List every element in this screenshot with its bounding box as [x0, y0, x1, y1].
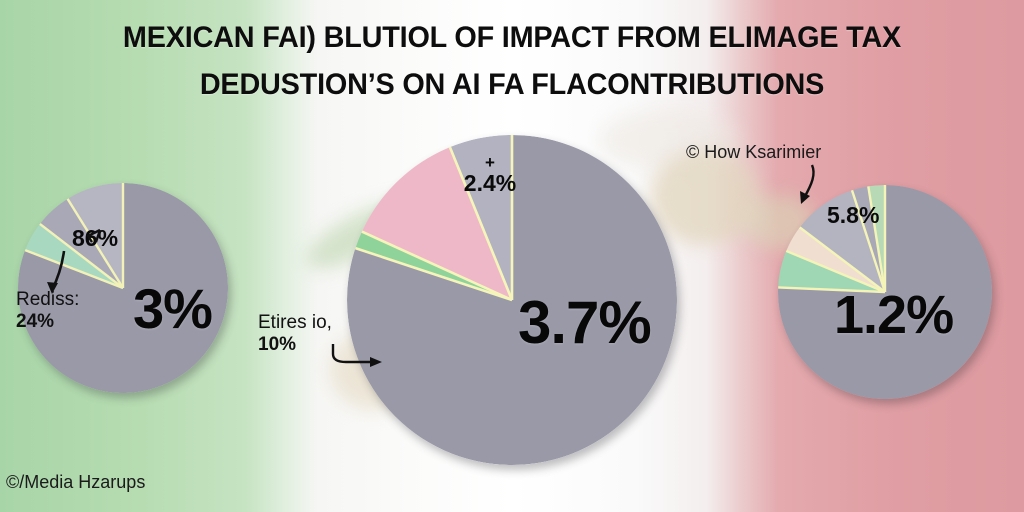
chart-title: MEXICAN FAI) BLUTIOL OF IMPACT FROM ELIM…: [20, 14, 1003, 108]
title-line-1: MEXICAN FAI) BLUTIOL OF IMPACT FROM ELIM…: [20, 14, 1003, 61]
pie-middle-slice-label-24: + 2.4%: [455, 155, 525, 197]
pie-middle-center-value: 3.7%: [518, 288, 651, 357]
pie-right-slice-label-58: 5.8%: [827, 202, 879, 229]
callout-value: 24%: [16, 311, 79, 333]
callout-text: Etires io,: [258, 312, 332, 334]
credit-top-right: © How Ksarimier: [686, 142, 821, 163]
plus-sign: +: [455, 155, 525, 170]
chart-image: MEXICAN FAI) BLUTIOL OF IMPACT FROM ELIM…: [0, 0, 1024, 512]
pie-middle-callout-etires: Etires io, 10%: [258, 312, 332, 356]
slice-percent: 2.4%: [455, 170, 525, 197]
credit-bottom-left: ©/Media Hzarups: [6, 472, 145, 493]
title-line-2: DEDUSTION’S ON AI FA FLACONTRIBUTIONS: [20, 61, 1003, 108]
callout-value: 10%: [258, 334, 332, 356]
pie-left-callout-rediss: Rediss: 24%: [16, 289, 79, 333]
pie-right-center-value: 1.2%: [834, 284, 953, 346]
pie-left-slice-label-86: 86%: [72, 225, 118, 252]
callout-text: Rediss:: [16, 289, 79, 311]
pie-left-center-value: 3%: [133, 276, 212, 341]
